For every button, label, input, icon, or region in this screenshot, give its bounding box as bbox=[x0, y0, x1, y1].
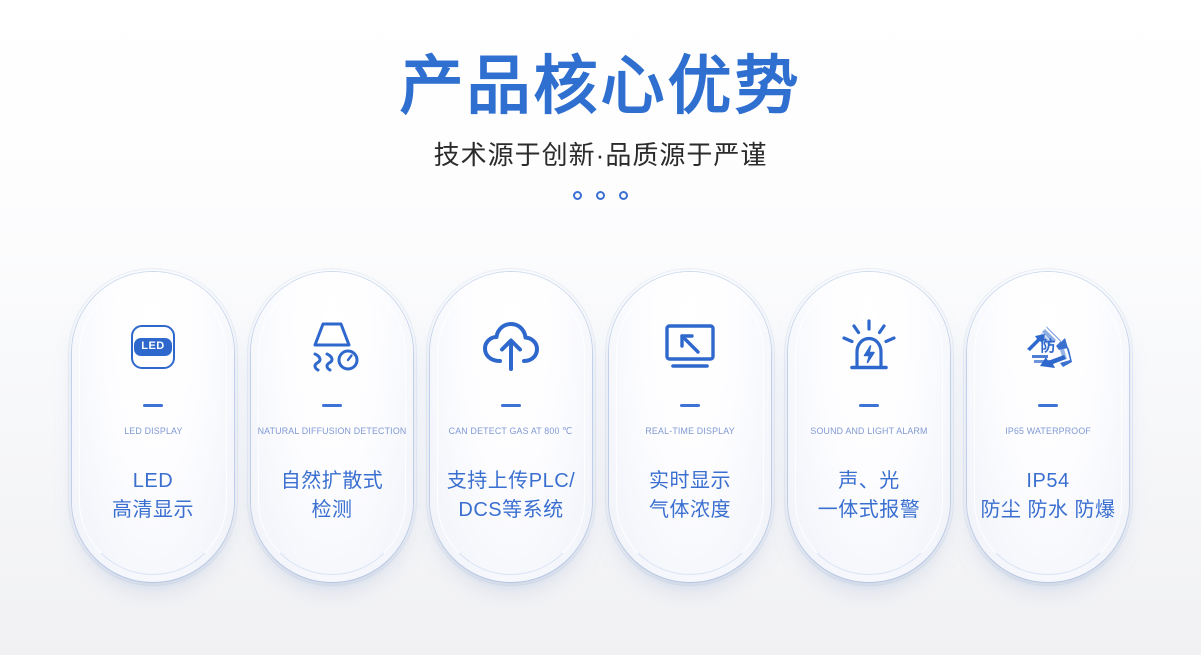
natural-diffusion-icon bbox=[303, 318, 361, 376]
card-divider bbox=[1038, 404, 1058, 407]
card-en-label: IP65 WATERPROOF bbox=[1005, 426, 1091, 437]
alarm-beacon-icon bbox=[839, 318, 899, 376]
card-cn-line-1: 实时显示 bbox=[649, 467, 731, 496]
led-badge-label: LED bbox=[134, 338, 172, 356]
protection-icon-char: 防 bbox=[1020, 339, 1076, 354]
monitor-display-icon bbox=[659, 318, 721, 376]
card-en-label: SOUND AND LIGHT ALARM bbox=[810, 426, 927, 437]
feature-card-led-display[interactable]: LED LED DISPLAY LED 高清显示 bbox=[72, 272, 234, 582]
feature-card-ip-protection[interactable]: 防 IP65 WATERPROOF IP54 防尘 防水 防爆 bbox=[967, 272, 1129, 582]
decorative-dots bbox=[0, 191, 1201, 200]
card-en-label: REAL-TIME DISPLAY bbox=[645, 426, 734, 437]
page-header: 产品核心优势 技术源于创新·品质源于严谨 bbox=[0, 0, 1201, 200]
card-divider bbox=[501, 404, 521, 407]
card-cn-text: IP54 防尘 防水 防爆 bbox=[972, 467, 1123, 525]
card-en-label: CAN DETECT GAS AT 800 ℃ bbox=[449, 426, 573, 437]
card-cn-line-1: 声、光 bbox=[818, 467, 921, 496]
card-cn-line-2: 气体浓度 bbox=[649, 496, 731, 525]
card-cn-line-1: 自然扩散式 bbox=[281, 467, 384, 496]
card-cn-line-2: 检测 bbox=[281, 496, 384, 525]
card-cn-line-1: IP54 bbox=[980, 467, 1115, 496]
card-en-label: LED DISPLAY bbox=[124, 426, 182, 437]
card-divider bbox=[680, 404, 700, 407]
card-cn-text: 自然扩散式 检测 bbox=[273, 467, 392, 525]
feature-card-list: LED LED DISPLAY LED 高清显示 NATURAL DIFFUSI… bbox=[0, 272, 1201, 582]
card-cn-text: 声、光 一体式报警 bbox=[810, 467, 929, 525]
page-subtitle: 技术源于创新·品质源于严谨 bbox=[0, 135, 1201, 172]
dot-1 bbox=[573, 191, 582, 200]
feature-card-realtime-display[interactable]: REAL-TIME DISPLAY 实时显示 气体浓度 bbox=[609, 272, 771, 582]
feature-card-cloud-upload[interactable]: CAN DETECT GAS AT 800 ℃ 支持上传PLC/ DCS等系统 bbox=[430, 272, 592, 582]
card-divider bbox=[322, 404, 342, 407]
card-cn-line-2: 高清显示 bbox=[112, 496, 194, 525]
card-cn-text: 支持上传PLC/ DCS等系统 bbox=[439, 467, 583, 525]
led-display-icon: LED bbox=[131, 318, 175, 376]
card-cn-line-1: 支持上传PLC/ bbox=[447, 467, 575, 496]
feature-card-natural-diffusion[interactable]: NATURAL DIFFUSION DETECTION 自然扩散式 检测 bbox=[251, 272, 413, 582]
card-divider bbox=[143, 404, 163, 407]
cloud-upload-icon bbox=[481, 318, 541, 376]
card-cn-text: LED 高清显示 bbox=[104, 467, 202, 525]
card-cn-line-1: LED bbox=[112, 467, 194, 496]
card-cn-line-2: DCS等系统 bbox=[447, 496, 575, 525]
feature-card-sound-light-alarm[interactable]: SOUND AND LIGHT ALARM 声、光 一体式报警 bbox=[788, 272, 950, 582]
dot-3 bbox=[619, 191, 628, 200]
card-cn-line-2: 一体式报警 bbox=[818, 496, 921, 525]
protection-recycle-icon: 防 bbox=[1020, 318, 1076, 376]
card-cn-line-2: 防尘 防水 防爆 bbox=[980, 496, 1115, 525]
card-cn-text: 实时显示 气体浓度 bbox=[641, 467, 739, 525]
page-title: 产品核心优势 bbox=[0, 52, 1201, 121]
card-en-label: NATURAL DIFFUSION DETECTION bbox=[258, 426, 407, 437]
card-divider bbox=[859, 404, 879, 407]
dot-2 bbox=[596, 191, 605, 200]
